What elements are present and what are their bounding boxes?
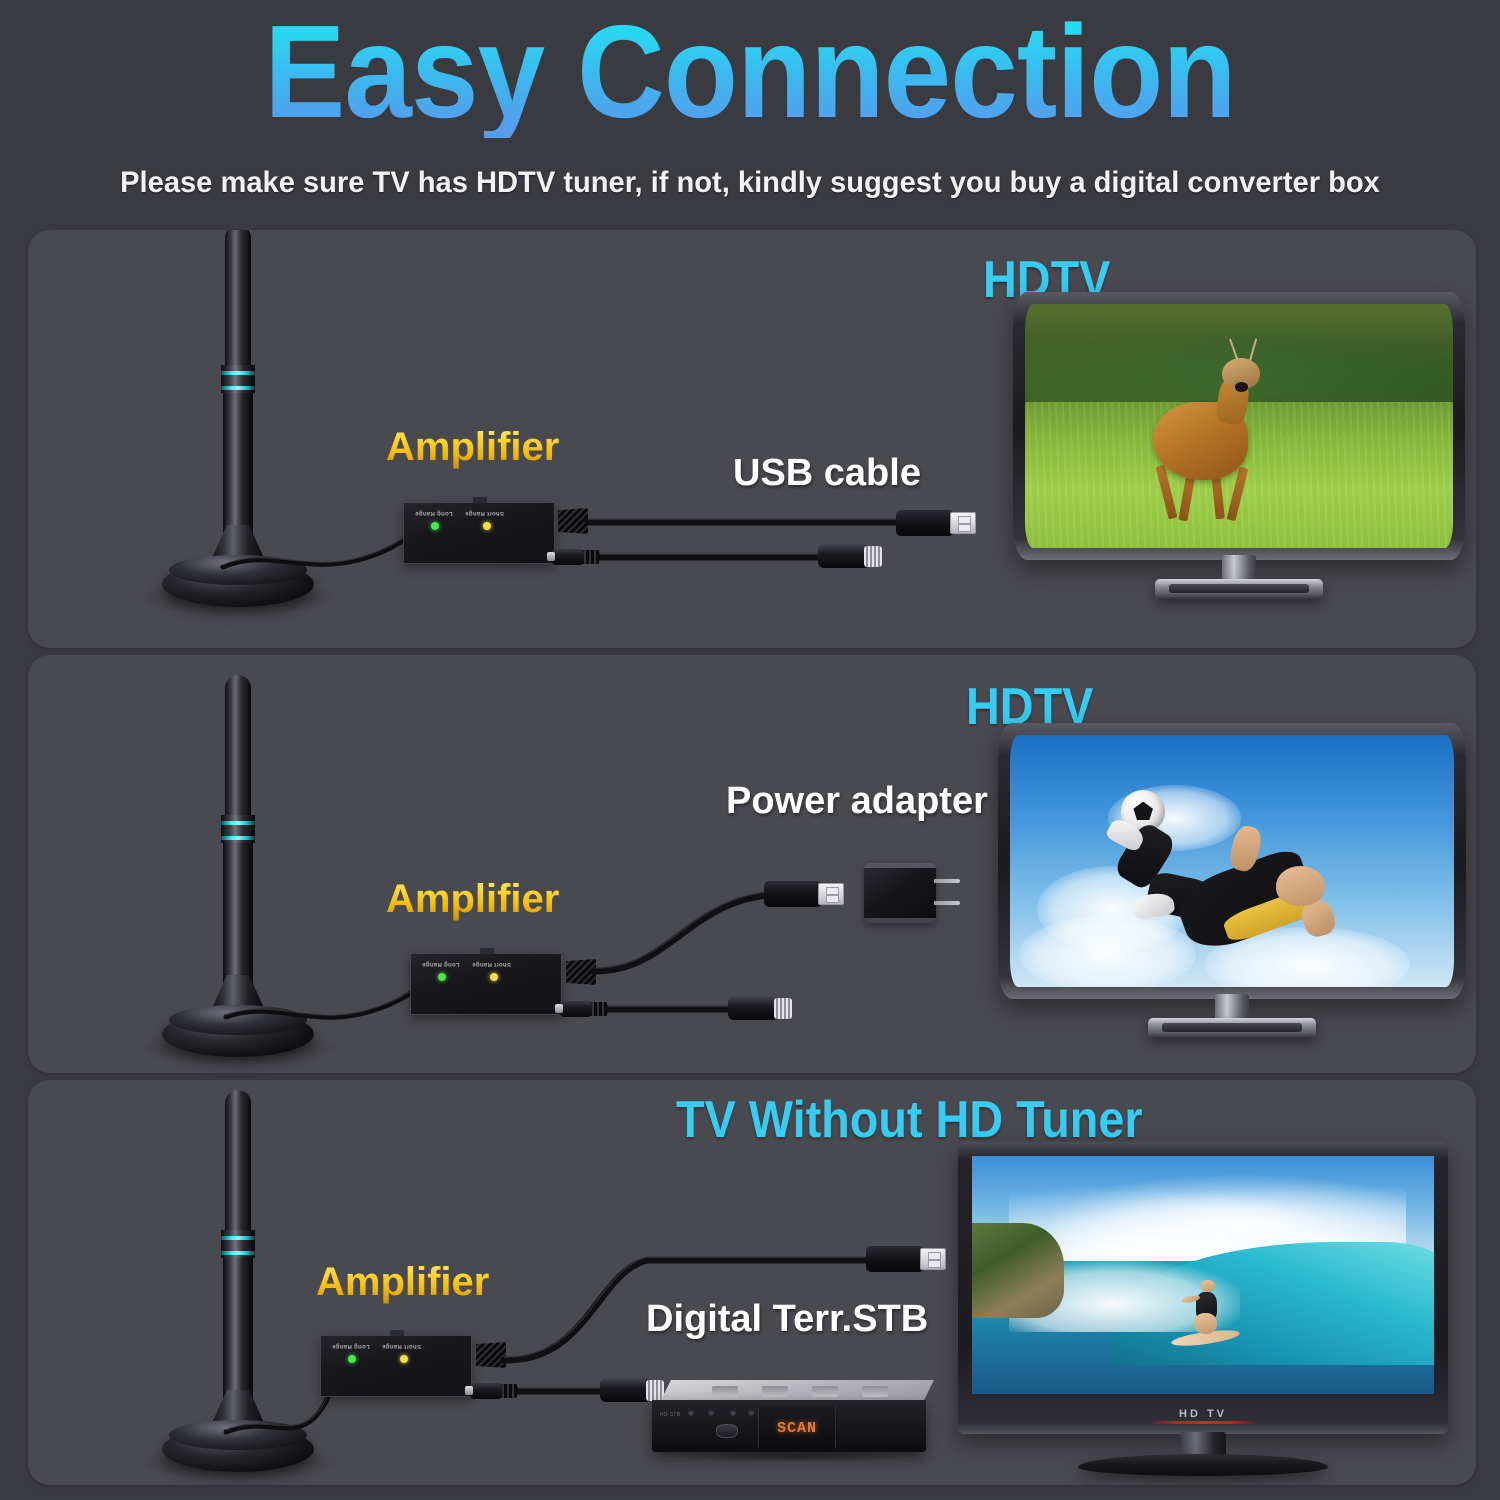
- stb-display-text: SCAN: [768, 1420, 826, 1437]
- antenna-ring-lower: [221, 1251, 255, 1255]
- led-short-range-indicator: [483, 522, 491, 530]
- tv-curved-1: [1013, 292, 1465, 560]
- stb-top-panel: [660, 1380, 934, 1402]
- usb-connector-3: [866, 1246, 924, 1272]
- tv-stand-base-3: [1078, 1454, 1328, 1476]
- power-adapter-top-edge: [864, 863, 936, 868]
- amplifier-label-2: Amplifier: [386, 877, 559, 922]
- power-adapter-bottom-edge: [864, 918, 936, 923]
- coax-barrel-3: [470, 1383, 502, 1399]
- stb-vent-4: [862, 1386, 888, 1397]
- antenna-2: [88, 675, 388, 1073]
- tv-flat-3: HD TV: [958, 1142, 1448, 1434]
- antenna-ring-upper: [221, 371, 255, 375]
- amplifier-label-3: Amplifier: [316, 1260, 489, 1305]
- tv-screen-2: [1010, 735, 1454, 987]
- stb-vent-1: [712, 1386, 738, 1397]
- antenna-rod-bottom: [223, 843, 253, 991]
- stb-brand-mark: HD·STB: [660, 1412, 680, 1418]
- amplifier-short-range-label: Short Range: [382, 1343, 421, 1349]
- led-short-range-indicator: [400, 1355, 408, 1363]
- surfer-head: [1201, 1280, 1215, 1292]
- antenna-base-top: [169, 1420, 307, 1450]
- usb-connector-tip-1: [950, 512, 976, 534]
- stb-vent-2: [762, 1386, 788, 1397]
- led-long-range-indicator: [431, 522, 439, 530]
- antenna-rod-top: [225, 675, 251, 825]
- connection-panel-hdtv-usb: HDTV Amplifier Long Range Short Range US…: [28, 230, 1476, 648]
- tv-scene-soccer: [1010, 735, 1454, 987]
- amplifier-nub: [473, 497, 487, 503]
- coax-barrel-tip-3: [465, 1386, 473, 1395]
- amplifier-box-3: Long Range Short Range: [320, 1335, 472, 1397]
- scene-cliff: [972, 1223, 1064, 1318]
- tv-scene-deer: [1025, 304, 1453, 548]
- usb-connector-2: [764, 881, 822, 907]
- connection-panel-no-tuner: TV Without HD Tuner Amplifier Long Range…: [28, 1080, 1476, 1485]
- tv-scene-surfer: [972, 1156, 1434, 1394]
- led-long-range-indicator: [348, 1355, 356, 1363]
- stb-label: Digital Terr.STB: [646, 1298, 928, 1341]
- amplifier-long-range-label: Long Range: [422, 961, 460, 967]
- deer-nose: [1235, 382, 1248, 392]
- page-subtitle: Please make sure TV has HDTV tuner, if n…: [23, 166, 1478, 200]
- strain-relief-usb-1: [558, 508, 588, 534]
- antenna-1: [88, 230, 388, 625]
- led-short-range-indicator: [490, 973, 498, 981]
- connection-panel-hdtv-power: HDTV Amplifier Long Range Short Range Po…: [28, 655, 1476, 1073]
- stb-shadow: [662, 1450, 928, 1462]
- amplifier-box-2: Long Range Short Range: [410, 953, 562, 1015]
- amplifier-short-range-label: Short Range: [472, 961, 511, 967]
- tv-logo-accent-line: [1148, 1421, 1258, 1424]
- amplifier-box-1: Long Range Short Range: [403, 502, 555, 564]
- strain-relief-usb-2: [566, 959, 596, 985]
- tv-brand-logo: HD TV: [958, 1408, 1448, 1420]
- power-adapter-prong-upper: [934, 879, 960, 883]
- antenna-rod-top: [225, 230, 251, 375]
- tv-stand-neck-1: [1222, 555, 1256, 581]
- usb-connector-tip-3: [920, 1248, 946, 1270]
- page-title: Easy Connection: [60, 6, 1440, 138]
- tv-screen-3: [972, 1156, 1434, 1394]
- stb-button-2[interactable]: [708, 1410, 714, 1416]
- amplifier-short-range-label: Short Range: [465, 510, 504, 516]
- strain-relief-usb-3: [476, 1342, 506, 1368]
- antenna-rod-bottom: [223, 1258, 253, 1406]
- antenna-ring-upper: [221, 1236, 255, 1240]
- amplifier-long-range-label: Long Range: [415, 510, 453, 516]
- stb-vent-3: [812, 1386, 838, 1397]
- tv-curved-2: [998, 723, 1466, 999]
- amplifier-long-range-label: Long Range: [332, 1343, 370, 1349]
- antenna-rod-bottom: [223, 393, 253, 541]
- usb-cable-label-1: USB cable: [733, 452, 921, 495]
- tv-stand-neck-2: [1215, 994, 1249, 1020]
- coax-barrel-tip-1: [547, 552, 555, 561]
- page-header: Easy Connection Please make sure TV has …: [0, 0, 1500, 228]
- antenna-rod-top: [225, 1090, 251, 1240]
- antenna-ring-upper: [221, 821, 255, 825]
- coax-connector-2: [728, 996, 780, 1020]
- tv-stand-base-2: [1148, 1018, 1316, 1038]
- coax-thread-2: [774, 998, 792, 1019]
- cloud-3: [1019, 916, 1197, 987]
- surfer-legs: [1194, 1313, 1217, 1334]
- coax-connector-3: [600, 1378, 652, 1402]
- usb-connector-tip-2: [818, 883, 844, 905]
- usb-connector-1: [896, 510, 954, 536]
- player-head: [1276, 866, 1325, 906]
- amplifier-nub: [480, 948, 494, 954]
- coax-barrel-tip-2: [555, 1004, 563, 1013]
- amplifier-nub: [390, 1330, 404, 1336]
- power-adapter-body: [864, 863, 936, 923]
- tv-screen-1: [1025, 304, 1453, 548]
- power-adapter-prong-lower: [934, 901, 960, 905]
- tv-stand-base-1: [1155, 579, 1323, 599]
- antenna-base-top: [169, 555, 307, 585]
- stb-button-1[interactable]: [688, 1410, 694, 1416]
- coax-thread-1: [864, 546, 882, 567]
- stb-power-knob[interactable]: [716, 1424, 738, 1438]
- antenna-ring-lower: [221, 386, 255, 390]
- led-long-range-indicator: [438, 973, 446, 981]
- coax-barrel-1: [552, 549, 584, 565]
- antenna-ring-lower: [221, 836, 255, 840]
- panel-title-no-tuner: TV Without HD Tuner: [676, 1090, 1143, 1150]
- power-adapter-label-2: Power adapter: [726, 780, 988, 823]
- digital-terrestrial-set-top-box: HD·STB SCAN: [652, 1380, 934, 1454]
- coax-connector-1: [818, 544, 870, 568]
- stb-button-3[interactable]: [730, 1410, 736, 1416]
- antenna-base-top: [169, 1005, 307, 1035]
- stb-button-4[interactable]: [748, 1410, 754, 1416]
- power-adapter-2: [864, 863, 936, 923]
- coax-barrel-2: [560, 1001, 592, 1017]
- amplifier-label-1: Amplifier: [386, 425, 559, 470]
